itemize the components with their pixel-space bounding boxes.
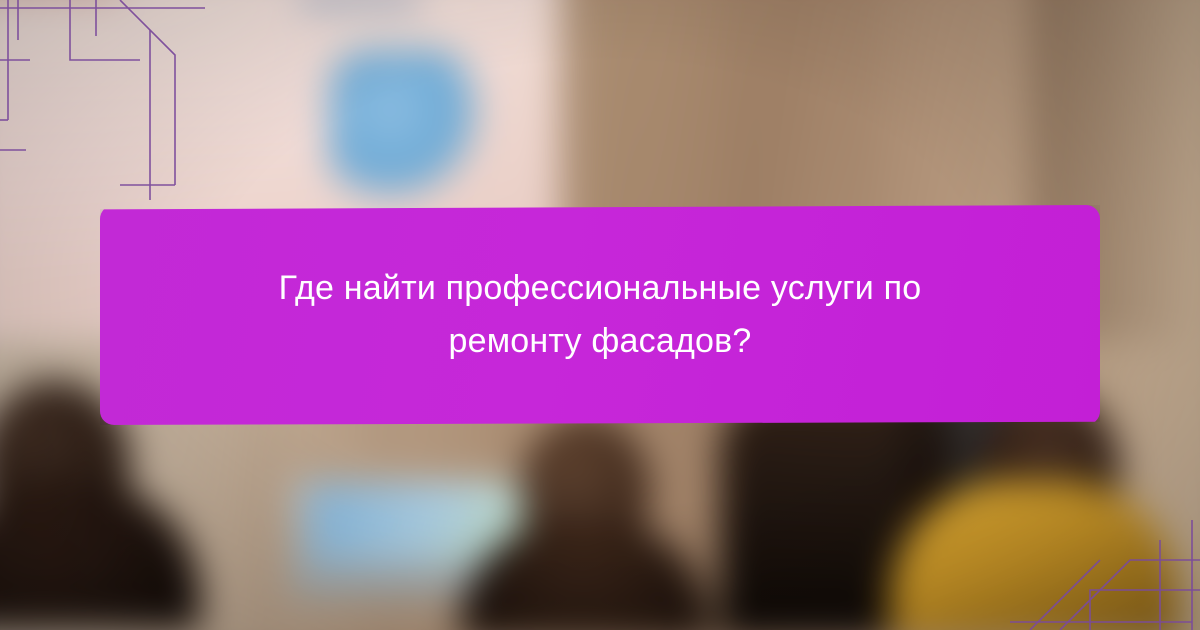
page-title: Где найти профессиональные услуги по рем… — [220, 262, 980, 367]
title-card: Где найти профессиональные услуги по рем… — [100, 205, 1100, 425]
poster-canvas: Где найти профессиональные услуги по рем… — [0, 0, 1200, 630]
